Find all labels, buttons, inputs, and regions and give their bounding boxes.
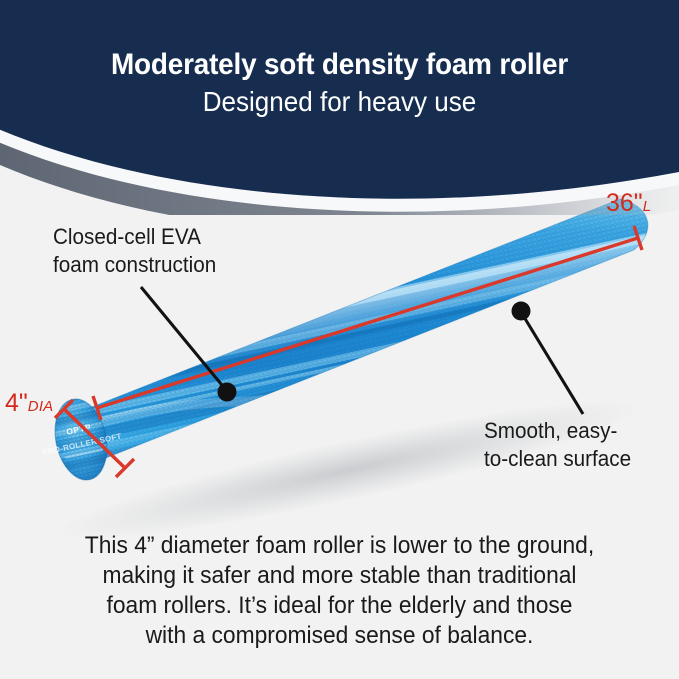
page-title: Moderately soft density foam roller	[24, 48, 655, 82]
callout-right-line2: to-clean surface	[484, 445, 631, 473]
diameter-value: 4"	[5, 389, 28, 417]
length-unit: L	[643, 198, 652, 215]
header-text-group: Moderately soft density foam roller Desi…	[0, 48, 679, 119]
description-paragraph: This 4” diameter foam roller is lower to…	[0, 531, 679, 651]
description-line-4: with a compromised sense of balance.	[17, 621, 662, 651]
callout-right: Smooth, easy- to-clean surface	[484, 417, 631, 473]
diameter-unit: DIA	[28, 398, 54, 415]
diameter-dimension-label: 4"DIA	[5, 390, 53, 420]
description-line-2: making it safer and more stable than tra…	[17, 561, 662, 591]
callout-left-line2: foam construction	[53, 251, 216, 279]
length-dimension-label: 36"L	[606, 190, 651, 220]
infographic-page: OPTP PRO-ROLLER SOFT	[0, 0, 679, 679]
leader-dot-right	[512, 302, 531, 321]
callout-right-line1: Smooth, easy-	[484, 417, 631, 445]
leader-dot-left	[218, 383, 237, 402]
length-value: 36"	[606, 189, 643, 217]
header-banner: Moderately soft density foam roller Desi…	[0, 0, 679, 215]
description-line-3: foam rollers. It’s ideal for the elderly…	[17, 591, 662, 621]
page-subtitle: Designed for heavy use	[24, 85, 655, 119]
callout-left-line1: Closed-cell EVA	[53, 223, 216, 251]
callout-left: Closed-cell EVA foam construction	[53, 223, 216, 279]
leader-line-right	[512, 302, 584, 415]
description-line-1: This 4” diameter foam roller is lower to…	[17, 531, 662, 561]
